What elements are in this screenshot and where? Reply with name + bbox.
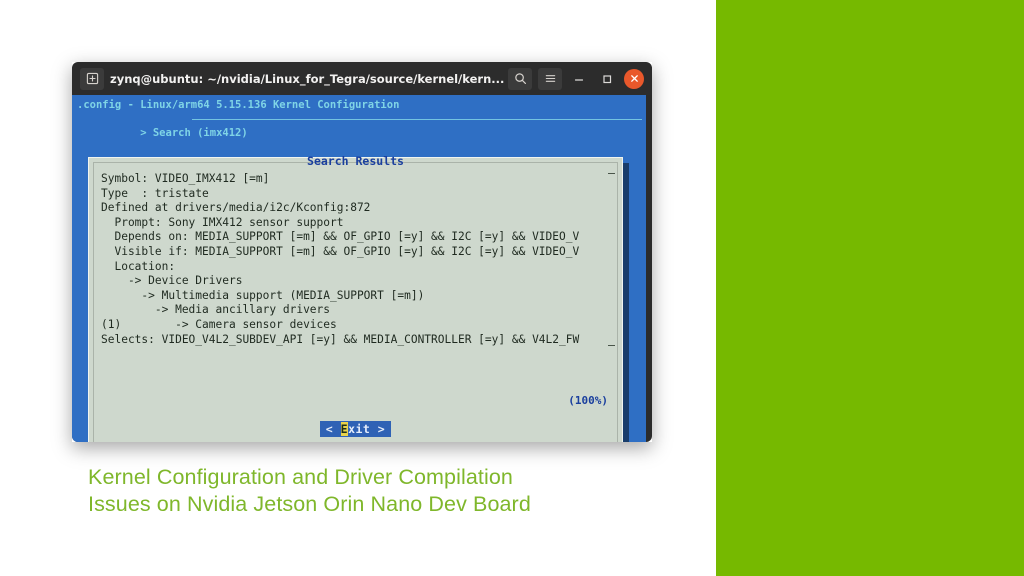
caption-line-2: Issues on Nvidia Jetson Orin Nano Dev Bo… <box>88 491 688 518</box>
search-icon[interactable] <box>508 68 532 90</box>
close-button[interactable] <box>624 69 644 89</box>
terminal-window: zynq@ubuntu: ~/nvidia/Linux_for_Tegra/so… <box>72 62 652 442</box>
terminal-titlebar: zynq@ubuntu: ~/nvidia/Linux_for_Tegra/so… <box>72 62 652 95</box>
scroll-percent-indicator: (100%) <box>568 394 608 407</box>
search-results-text: Symbol: VIDEO_IMX412 [=m] Type : tristat… <box>101 172 607 360</box>
scroll-up-mark[interactable] <box>608 173 615 174</box>
exit-button[interactable]: < Exit > <box>320 421 391 437</box>
dialog-button-row: < Exit > <box>89 421 622 437</box>
terminal-title: zynq@ubuntu: ~/nvidia/Linux_for_Tegra/so… <box>104 72 508 86</box>
dialog-inner-frame: Search Results Symbol: VIDEO_IMX412 [=m]… <box>93 162 618 442</box>
hamburger-menu-icon[interactable] <box>538 68 562 90</box>
search-results-dialog: Search Results Symbol: VIDEO_IMX412 [=m]… <box>88 157 623 442</box>
caption-line-1: Kernel Configuration and Driver Compilat… <box>88 464 688 491</box>
minimize-button[interactable] <box>568 68 590 90</box>
titlebar-controls <box>508 68 648 90</box>
dialog-title: Search Results <box>94 154 617 168</box>
new-tab-icon[interactable] <box>80 68 104 90</box>
menuconfig-screen: .config - Linux/arm64 5.15.136 Kernel Co… <box>72 95 646 442</box>
terminal-body: .config - Linux/arm64 5.15.136 Kernel Co… <box>72 95 652 442</box>
slide-caption: Kernel Configuration and Driver Compilat… <box>88 464 688 518</box>
menuconfig-header: .config - Linux/arm64 5.15.136 Kernel Co… <box>72 95 646 112</box>
exit-button-hotkey: E <box>341 422 348 436</box>
slide-root: zynq@ubuntu: ~/nvidia/Linux_for_Tegra/so… <box>0 0 1024 576</box>
maximize-button[interactable] <box>596 68 618 90</box>
scroll-down-mark[interactable] <box>608 345 615 346</box>
exit-button-suffix: xit > <box>348 422 385 436</box>
menuconfig-breadcrumb-text: > Search (imx412) <box>140 127 247 139</box>
nvidia-green-panel <box>716 0 1024 576</box>
exit-button-prefix: < <box>326 422 341 436</box>
breadcrumb-rule <box>192 119 642 120</box>
